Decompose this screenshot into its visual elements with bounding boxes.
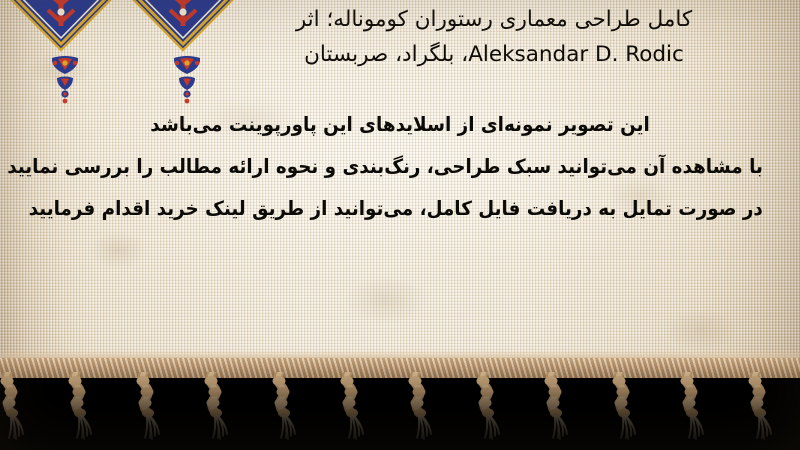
fringe-tassel [606, 372, 646, 446]
fringe-tassel [538, 372, 578, 446]
fringe-tassel [198, 372, 238, 446]
fringe-tassel [62, 372, 102, 446]
fringe-tassel [674, 372, 714, 446]
body-line-3: در صورت تمایل به دریافت فایل کامل، می‌تو… [37, 188, 763, 230]
fringe-tassel [470, 372, 510, 446]
fringe-tassel [742, 372, 782, 446]
carpet-fringe [0, 358, 800, 450]
text-layer: کامل طراحی معماری رستوران کوموناله؛ اثر … [0, 0, 800, 372]
slide-body: این تصویر نمونه‌ای از اسلایدهای این پاور… [14, 104, 786, 230]
slide-title: کامل طراحی معماری رستوران کوموناله؛ اثر … [214, 2, 774, 72]
fringe-tassel [266, 372, 306, 446]
body-line-2: با مشاهده آن می‌توانید سبک طراحی، رنگ‌بن… [37, 146, 763, 188]
fringe-tassel [402, 372, 442, 446]
fringe-tassel [334, 372, 374, 446]
fringe-tassel [130, 372, 170, 446]
slide-canvas: کامل طراحی معماری رستوران کوموناله؛ اثر … [0, 0, 800, 450]
title-line-2: Aleksandar D. Rodic، بلگراد، صربستان [214, 37, 774, 72]
fringe-tassel [0, 372, 34, 446]
body-line-1: این تصویر نمونه‌ای از اسلایدهای این پاور… [37, 104, 763, 146]
title-line-1: کامل طراحی معماری رستوران کوموناله؛ اثر [214, 2, 774, 37]
